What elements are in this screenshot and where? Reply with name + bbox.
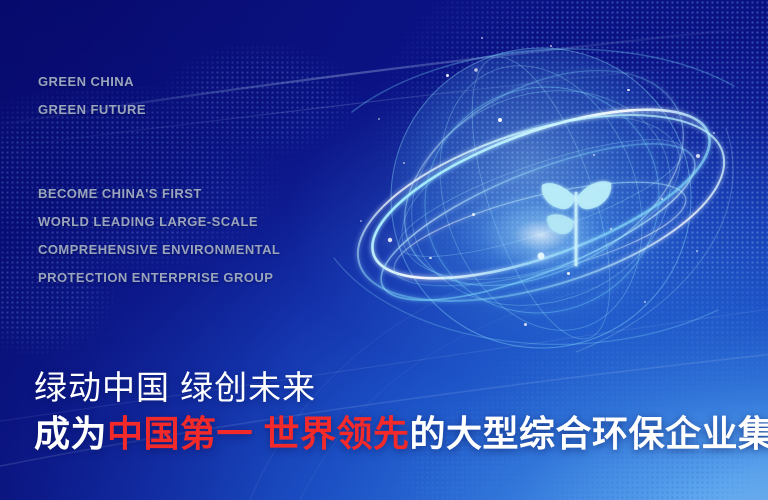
tagline-main: BECOME CHINA'S FIRST WORLD LEADING LARGE… (38, 180, 280, 292)
tagline-top-line-2: GREEN FUTURE (38, 96, 146, 124)
headline-line-2-prefix: 成为 (34, 413, 107, 454)
headline-block: 绿动中国 绿创未来 成为中国第一 世界领先的大型综合环保企业集团 (34, 366, 768, 458)
headline-line-1: 绿动中国 绿创未来 (34, 366, 768, 410)
tagline-main-line-2: WORLD LEADING LARGE-SCALE (38, 208, 280, 236)
headline-line-2-suffix: 的大型综合环保企业集团 (410, 413, 768, 454)
tagline-main-line-4: PROTECTION ENTERPRISE GROUP (38, 264, 280, 292)
tagline-top-line-1: GREEN CHINA (38, 68, 146, 96)
tagline-top: GREEN CHINA GREEN FUTURE (38, 68, 146, 124)
tagline-main-line-1: BECOME CHINA'S FIRST (38, 180, 280, 208)
headline-line-2-accent: 中国第一 世界领先 (107, 413, 410, 454)
hero-banner: GREEN CHINA GREEN FUTURE BECOME CHINA'S … (0, 0, 768, 500)
headline-line-2: 成为中国第一 世界领先的大型综合环保企业集团 (34, 410, 768, 458)
tagline-main-line-3: COMPREHENSIVE ENVIRONMENTAL (38, 236, 280, 264)
